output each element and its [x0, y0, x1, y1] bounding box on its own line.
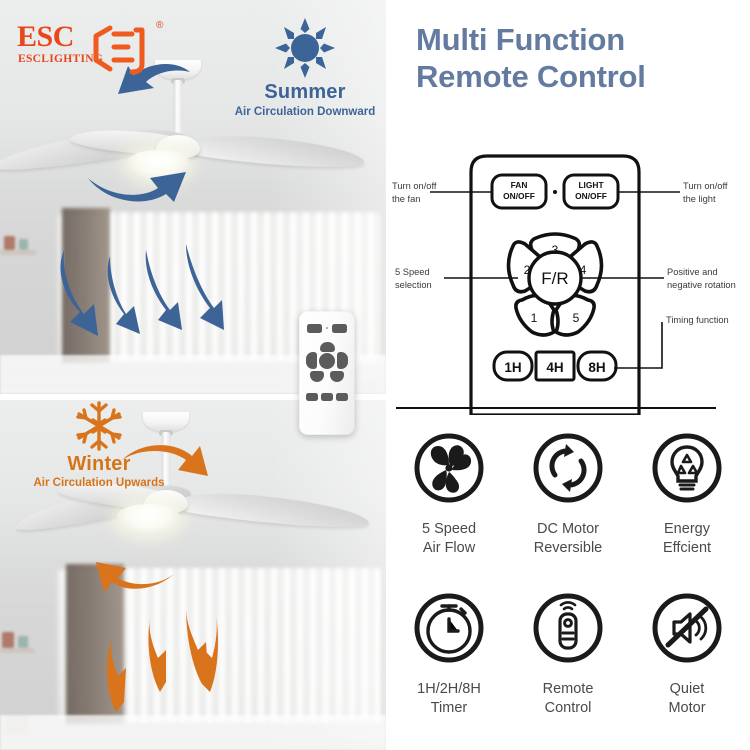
callout-timing: Timing function [666, 314, 746, 327]
feature-label-line2: Control [509, 699, 627, 718]
esc-emblem-icon [86, 22, 156, 76]
timer-8h-label: 8H [588, 360, 605, 375]
speed-4-label: 4 [580, 263, 587, 277]
feature-label-line2: Motor [628, 699, 746, 718]
brand-name: ESC [17, 20, 74, 54]
photo-column: Summer Air Circulation Downward ESC ESCL… [0, 0, 386, 750]
wall-shelf [0, 648, 34, 653]
callout-rotation-line1: Positive and [667, 266, 747, 279]
photo-fan-button [307, 324, 322, 333]
feature-energy-efficient: Energy Effcient [628, 432, 746, 557]
summer-subtitle: Air Circulation Downward [219, 107, 386, 119]
speed-2-label: 2 [524, 263, 531, 277]
callout-speed-line1: 5 Speed [395, 266, 451, 279]
callout-speed-line2: selection [395, 279, 451, 292]
brand-logo: ESC ESCLIGHTING ® [17, 20, 177, 76]
remote-icon [532, 592, 604, 664]
remote-diagram: FAN ON/OFF LIGHT ON/OFF 3 2 4 1 5 F/R 1H… [386, 140, 750, 415]
callout-rotation-line2: negative rotation [667, 279, 747, 292]
feature-label-line1: Quiet [628, 680, 746, 699]
feature-label-line1: 1H/2H/8H [390, 680, 508, 699]
registered-mark: ® [156, 20, 163, 31]
summer-title: Summer [219, 82, 386, 102]
fan-blade-right [169, 488, 371, 531]
photo-timer-1h [306, 393, 318, 401]
title-line-1: Multi Function [416, 22, 746, 59]
fan-light-kit [117, 504, 179, 534]
reversible-arrows-icon [532, 432, 604, 504]
sun-icon [273, 18, 337, 80]
feature-label-line1: Energy [628, 520, 746, 539]
photo-speed-3 [320, 342, 335, 352]
feature-5-speed-air-flow: 5 Speed Air Flow [390, 432, 508, 557]
callout-fan-power-line1: Turn on/off [392, 180, 454, 193]
feature-label: Remote Control [509, 680, 627, 717]
fan-button-label-1: FAN [511, 180, 528, 190]
photo-timer-8h [336, 393, 348, 401]
timer-4h-label: 4H [546, 360, 563, 375]
speed-3-label: 3 [552, 243, 559, 257]
wall-shelf [0, 250, 36, 255]
winter-title: Winter [10, 454, 188, 474]
callout-rotation: Positive and negative rotation [667, 266, 747, 292]
feature-label: Energy Effcient [628, 520, 746, 557]
callout-fan-power-line2: the fan [392, 193, 454, 206]
fan-button-label-2: ON/OFF [503, 191, 535, 201]
feature-quiet-motor: Quiet Motor [628, 592, 746, 717]
callout-fan-power: Turn on/off the fan [392, 180, 454, 206]
callout-speed: 5 Speed selection [395, 266, 451, 292]
light-button-label-1: LIGHT [578, 180, 604, 190]
feature-label: Quiet Motor [628, 680, 746, 717]
stopwatch-icon [413, 592, 485, 664]
feature-label-line1: DC Motor [509, 520, 627, 539]
winter-photo-panel: Winter Air Circulation Upwards [0, 400, 386, 750]
eco-bulb-icon [651, 432, 723, 504]
feature-label: DC Motor Reversible [509, 520, 627, 557]
feature-label-line2: Effcient [628, 539, 746, 558]
fan-blades-icon [413, 432, 485, 504]
feature-label: 5 Speed Air Flow [390, 520, 508, 557]
photo-speed-2 [306, 352, 317, 369]
right-column: Multi Function Remote Control [386, 0, 750, 750]
page-title: Multi Function Remote Control [416, 22, 746, 95]
photo-speed-1 [310, 371, 324, 382]
photo-timer-4h [321, 393, 333, 401]
floor-line [0, 715, 386, 750]
snowflake-icon [71, 400, 127, 452]
remote-product-photo [299, 311, 355, 435]
speed-1-label: 1 [531, 311, 538, 325]
feature-label-line1: 5 Speed [390, 520, 508, 539]
feature-label-line2: Timer [390, 699, 508, 718]
feature-remote-control: Remote Control [509, 592, 627, 717]
feature-grid: 5 Speed Air Flow [386, 432, 750, 750]
timer-1h-label: 1H [504, 360, 521, 375]
feature-label-line2: Reversible [509, 539, 627, 558]
callout-light-power: Turn on/off the light [683, 180, 747, 206]
feature-label-line1: Remote [509, 680, 627, 699]
callout-light-power-line1: Turn on/off [683, 180, 747, 193]
summer-badge: Summer Air Circulation Downward [219, 18, 386, 119]
photo-speed-5 [330, 371, 344, 382]
fan-blade-right [182, 132, 365, 171]
photo-speed-4 [337, 352, 348, 369]
photo-light-button [332, 324, 347, 333]
photo-fr-button [319, 353, 335, 369]
light-button-label-2: ON/OFF [575, 191, 607, 201]
fr-label: F/R [541, 269, 568, 288]
speed-5-label: 5 [573, 311, 580, 325]
callout-timing-line1: Timing function [666, 314, 746, 327]
callout-light-power-line2: the light [683, 193, 747, 206]
section-divider [396, 407, 716, 409]
winter-subtitle: Air Circulation Upwards [10, 478, 188, 490]
fan-light-kit [127, 150, 189, 180]
shelf-object [19, 239, 28, 250]
winter-badge: Winter Air Circulation Upwards [10, 400, 188, 490]
led-indicator-icon [553, 190, 557, 194]
feature-dc-motor-reversible: DC Motor Reversible [509, 432, 627, 557]
feature-timer: 1H/2H/8H Timer [390, 592, 508, 717]
mute-speaker-icon [651, 592, 723, 664]
feature-label-line2: Air Flow [390, 539, 508, 558]
photo-led-dot [326, 327, 328, 329]
feature-label: 1H/2H/8H Timer [390, 680, 508, 717]
infographic-canvas: Summer Air Circulation Downward ESC ESCL… [0, 0, 750, 750]
title-line-2: Remote Control [416, 59, 746, 96]
